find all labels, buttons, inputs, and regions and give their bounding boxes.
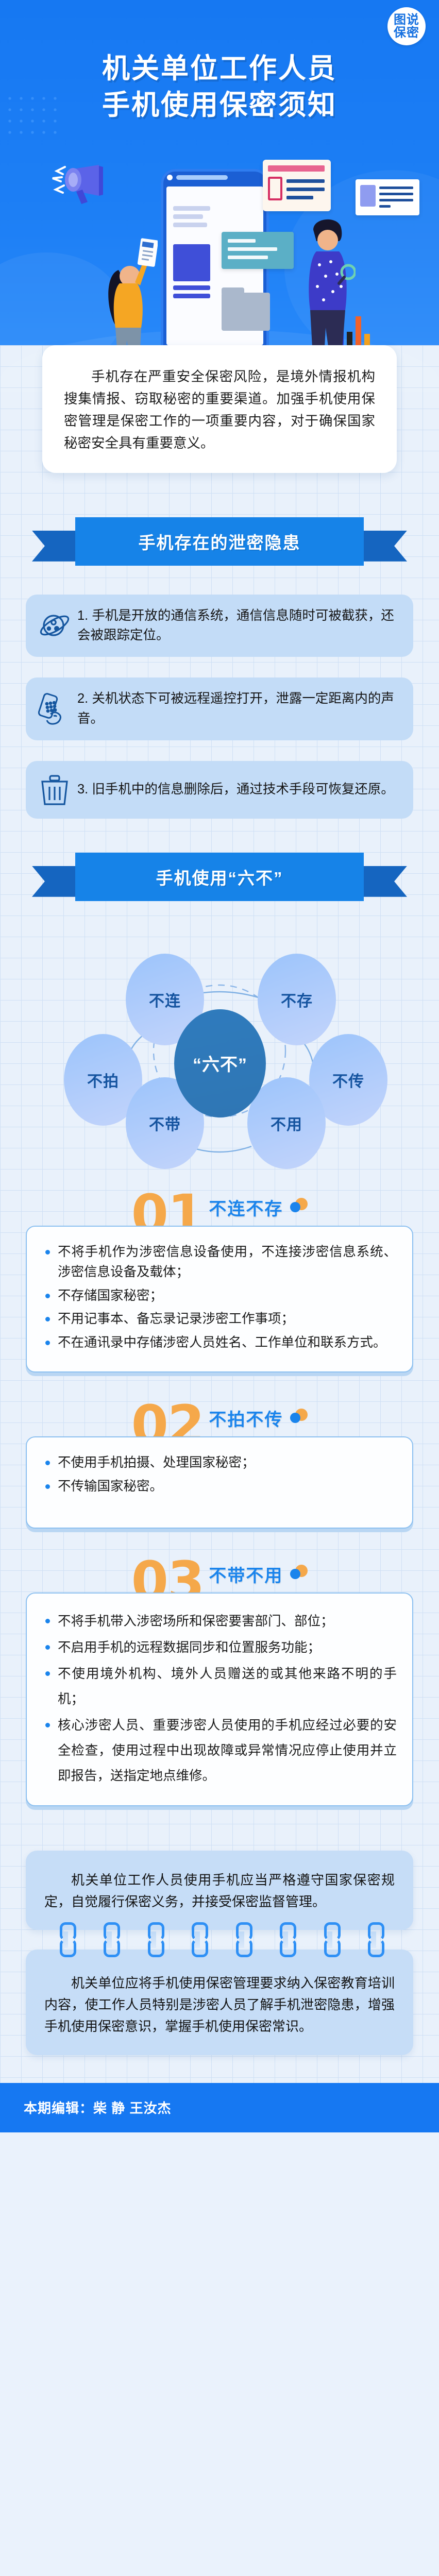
bottom-spacer [0, 2055, 439, 2083]
ring-icon [104, 1922, 115, 1957]
bullet-item: 核心涉密人员、重要涉密人员使用的手机应经过必要的安全检查，使用过程中出现故障或异… [44, 1713, 397, 1789]
ribbon-tail-left [32, 866, 81, 897]
message-card-teal [222, 232, 294, 269]
section-02-title: 不拍不传 [209, 1405, 283, 1431]
bullet-item: 不在通讯录中存储涉密人员姓名、工作单位和联系方式。 [44, 1333, 397, 1353]
phone-mockup [161, 169, 269, 370]
bullet-item: 不存储国家秘密； [44, 1286, 397, 1307]
sixno-bubble-label: 不存 [281, 988, 313, 1011]
body-content: 手机存在严重安全保密风险，是境外情报机构搜集情报、窃取秘密的重要渠道。加强手机使… [0, 345, 439, 2083]
ribbon-body: 手机使用“六不” [75, 853, 364, 901]
risk-item: 2. 关机状态下可被远程遥控打开，泄露一定距离内的声音。 [26, 677, 413, 740]
risk-item-text: 1. 手机是开放的通信系统，通信信息随时可被截获，还会被跟踪定位。 [74, 606, 400, 646]
trash-bin-icon [35, 773, 74, 806]
ribbon-body: 手机存在的泄密隐患 [75, 517, 364, 566]
section-01-card: 不将手机作为涉密信息设备使用，不连接涉密信息系统、涉密信息设备及载体； 不存储国… [26, 1226, 413, 1373]
section-03-bullets: 不将手机带入涉密场所和保密要害部门、部位； 不启用手机的远程数据同步和位置服务功… [44, 1609, 397, 1789]
conclusion-card-2: 机关单位应将手机使用保密管理要求纳入保密教育培训内容，使工作人员特别是涉密人员了… [26, 1950, 413, 2055]
hero-illustration [0, 155, 439, 371]
section-03-title: 不带不用 [209, 1562, 283, 1587]
banner-sixno: 手机使用“六不” [75, 853, 364, 901]
dual-dot-decoration [290, 1198, 308, 1215]
ribbon-tail-left [32, 531, 81, 562]
risk-item-text: 2. 关机状态下可被远程遥控打开，泄露一定距离内的声音。 [74, 689, 400, 729]
megaphone-icon [49, 164, 109, 208]
footer-bar: 本期编辑：柴 静 王汝杰 [0, 2083, 439, 2132]
section-02-bullets: 不使用手机拍摄、处理国家秘密； 不传输国家秘密。 [44, 1453, 397, 1497]
sixno-bubble-label: 不用 [271, 1112, 302, 1134]
bullet-item: 不传输国家秘密。 [44, 1477, 397, 1497]
banner-risks: 手机存在的泄密隐患 [75, 517, 364, 566]
conclusion-text-1: 机关单位工作人员使用手机应当严格遵守国家保密规定，自觉履行保密义务，并接受保密监… [44, 1869, 395, 1912]
hero-header: 图说 保密 机关单位工作人员 手机使用保密须知 [0, 0, 439, 392]
dual-dot-decoration [290, 1565, 308, 1582]
page-title: 机关单位工作人员 手机使用保密须知 [0, 0, 439, 124]
bullet-item: 不用记事本、备忘录记录涉密工作事项； [44, 1309, 397, 1330]
bullet-item: 不启用手机的远程数据同步和位置服务功能； [44, 1635, 397, 1660]
binder-rings-decoration [26, 1921, 413, 1959]
risk-item: 3. 旧手机中的信息删除后，通过技术手段可恢复还原。 [26, 761, 413, 819]
dual-dot-decoration [290, 1409, 308, 1426]
ring-icon [324, 1922, 335, 1957]
risk-item: 1. 手机是开放的通信系统，通信信息随时可被截获，还会被跟踪定位。 [26, 595, 413, 657]
conclusion-card-1: 机关单位工作人员使用手机应当严格遵守国家保密规定，自觉履行保密义务，并接受保密监… [26, 1851, 413, 1930]
section-02: 02 不拍不传 不使用手机拍摄、处理国家秘密； 不传输国家秘密。 [26, 1372, 413, 1529]
ring-icon [236, 1922, 247, 1957]
sixno-bubble-top-right: 不存 [258, 954, 336, 1045]
sixno-center-bubble: “六不” [174, 1009, 266, 1117]
bullet-item: 不将手机作为涉密信息设备使用，不连接涉密信息系统、涉密信息设备及载体； [44, 1242, 397, 1283]
ribbon-tail-right [358, 531, 407, 562]
section-01-title: 不连不存 [209, 1195, 283, 1220]
intro-text: 手机存在严重安全保密风险，是境外情报机构搜集情报、窃取秘密的重要渠道。加强手机使… [64, 366, 375, 454]
conclusion-group: 机关单位工作人员使用手机应当严格遵守国家保密规定，自觉履行保密义务，并接受保密监… [26, 1851, 413, 2055]
section-02-card: 不使用手机拍摄、处理国家秘密； 不传输国家秘密。 [26, 1436, 413, 1529]
sixno-bubble-label: 不拍 [87, 1069, 119, 1091]
profile-card-white [356, 179, 419, 215]
bullet-item: 不使用境外机构、境外人员赠送的或其他来路不明的手机； [44, 1662, 397, 1712]
ring-icon [368, 1922, 379, 1957]
sixno-center-label: “六不” [193, 1050, 247, 1076]
ribbon-tail-right [358, 866, 407, 897]
notification-card-pink [263, 160, 331, 211]
bullet-item: 不将手机带入涉密场所和保密要害部门、部位； [44, 1609, 397, 1634]
sixno-bubble-label: 不传 [332, 1069, 364, 1091]
infographic-page: 图说 保密 机关单位工作人员 手机使用保密须知 [0, 0, 439, 2132]
risk-list: 1. 手机是开放的通信系统，通信信息随时可被截获，还会被跟踪定位。 [26, 595, 413, 819]
sixno-diagram: 不连 不存 不拍 不传 不带 不用 “六不” [0, 925, 439, 1172]
phone-notch [176, 175, 228, 180]
satellite-orbit-icon [35, 609, 74, 642]
bullet-item: 不使用手机拍摄、处理国家秘密； [44, 1453, 397, 1473]
folder-icon [222, 293, 270, 331]
section-03-card: 不将手机带入涉密场所和保密要害部门、部位； 不启用手机的远程数据同步和位置服务功… [26, 1592, 413, 1806]
section-01: 01 不连不存 不将手机作为涉密信息设备使用，不连接涉密信息系统、涉密信息设备及… [26, 1172, 413, 1373]
risk-item-text: 3. 旧手机中的信息删除后，通过技术手段可恢复还原。 [74, 779, 394, 800]
banner-risks-label: 手机存在的泄密隐患 [139, 529, 301, 554]
banner-sixno-label: 手机使用“六不” [156, 865, 283, 889]
ring-icon [60, 1922, 71, 1957]
ring-icon [192, 1922, 203, 1957]
section-01-bullets: 不将手机作为涉密信息设备使用，不连接涉密信息系统、涉密信息设备及载体； 不存储国… [44, 1242, 397, 1353]
sixno-bubble-label: 不带 [149, 1112, 181, 1134]
hand-holding-phone-icon [35, 692, 74, 725]
footer-editor-text: 本期编辑：柴 静 王汝杰 [24, 2098, 171, 2117]
section-03: 03 不带不用 不将手机带入涉密场所和保密要害部门、部位； 不启用手机的远程数据… [26, 1529, 413, 1806]
title-line-1: 机关单位工作人员 [0, 50, 439, 87]
conclusion-text-2: 机关单位应将手机使用保密管理要求纳入保密教育培训内容，使工作人员特别是涉密人员了… [44, 1972, 395, 2037]
sixno-bubble-label: 不连 [149, 988, 181, 1011]
intro-card: 手机存在严重安全保密风险，是境外情报机构搜集情报、窃取秘密的重要渠道。加强手机使… [42, 345, 397, 473]
title-line-2: 手机使用保密须知 [0, 87, 439, 124]
ring-icon [148, 1922, 159, 1957]
ring-icon [280, 1922, 291, 1957]
